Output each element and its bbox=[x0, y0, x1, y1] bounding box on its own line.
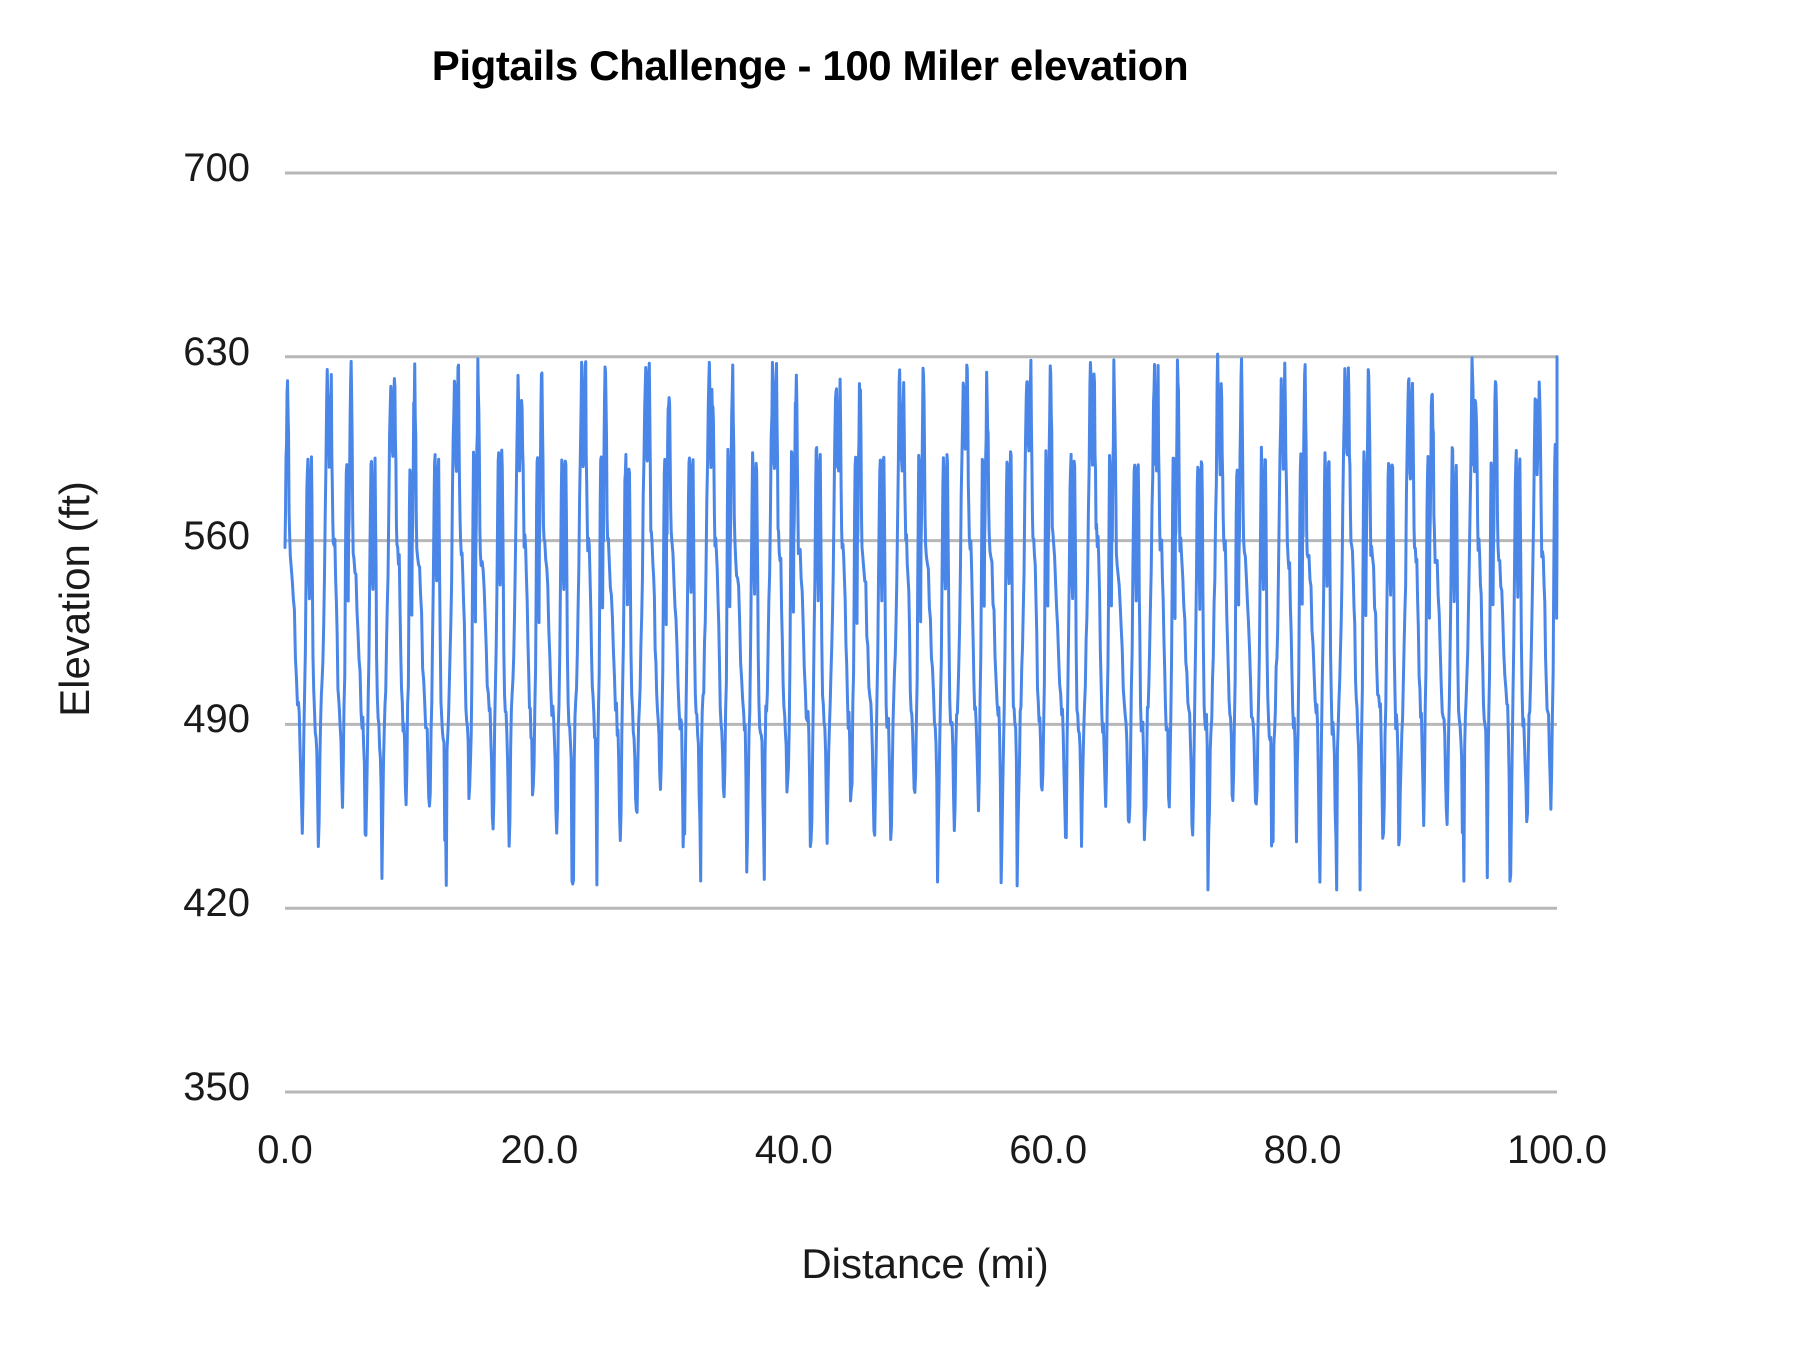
x-tick-label: 60.0 bbox=[928, 1128, 1168, 1173]
x-tick-label: 40.0 bbox=[674, 1128, 914, 1173]
y-tick-label: 350 bbox=[60, 1065, 250, 1110]
series-line-elevation bbox=[285, 354, 1557, 890]
series-elevation bbox=[285, 354, 1557, 890]
x-tick-label: 20.0 bbox=[419, 1128, 659, 1173]
x-axis-title: Distance (mi) bbox=[300, 1240, 1550, 1288]
elevation-chart: Pigtails Challenge - 100 Miler elevation… bbox=[0, 0, 1800, 1350]
x-tick-label: 80.0 bbox=[1183, 1128, 1423, 1173]
gridlines bbox=[285, 173, 1557, 1092]
x-tick-label: 100.0 bbox=[1437, 1128, 1677, 1173]
y-tick-label: 700 bbox=[60, 146, 250, 191]
x-tick-label: 0.0 bbox=[165, 1128, 405, 1173]
y-axis-title: Elevation (ft) bbox=[51, 219, 99, 979]
